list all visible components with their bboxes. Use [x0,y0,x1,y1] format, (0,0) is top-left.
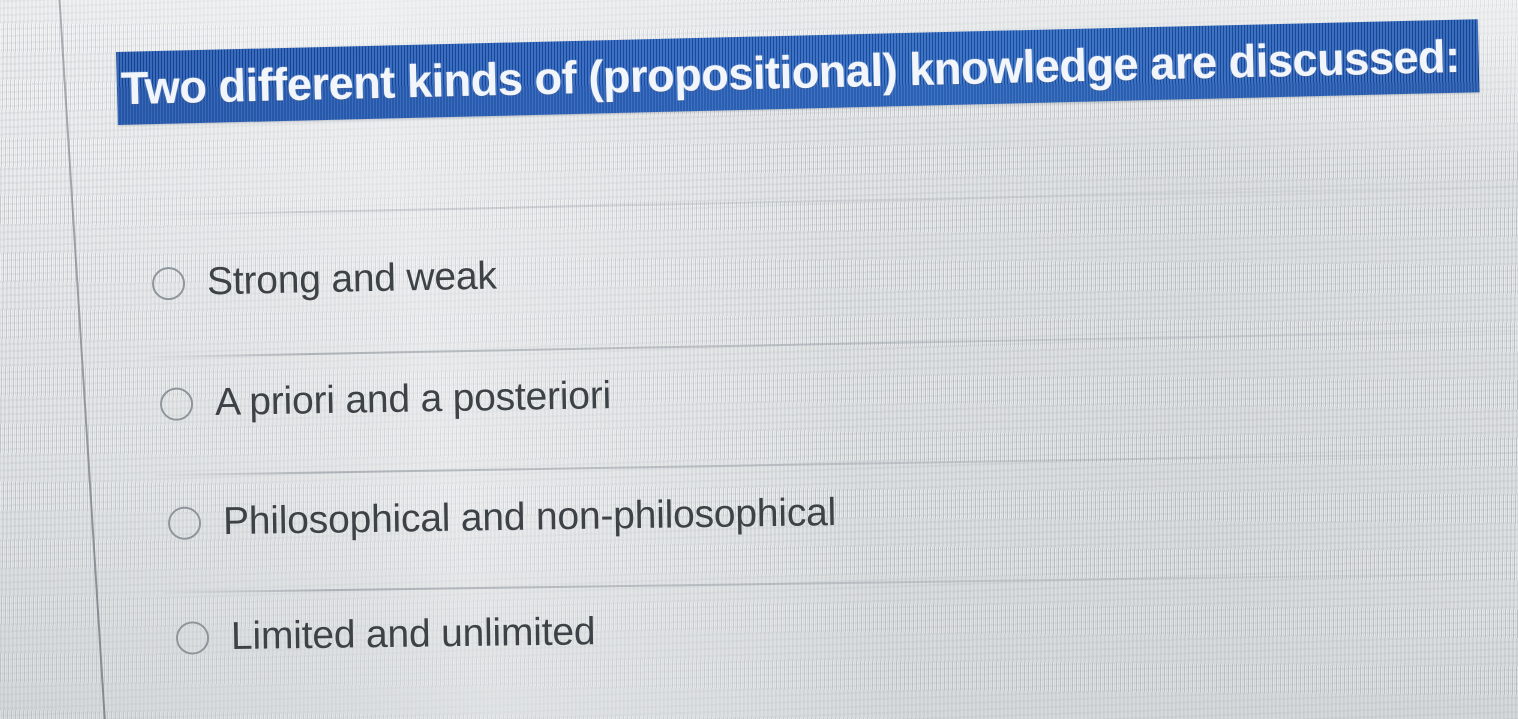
radio-unchecked-icon[interactable] [168,506,201,539]
option-divider-3 [164,573,1518,593]
option-label-strong-weak: Strong and weak [207,255,498,305]
radio-unchecked-icon[interactable] [160,387,194,421]
option-label-philosophical: Philosophical and non-philosophical [223,491,837,544]
option-row-strong-weak[interactable]: Strong and weak [152,255,498,306]
option-row-limited-unlimited[interactable]: Limited and unlimited [176,610,596,659]
option-label-limited-unlimited: Limited and unlimited [231,610,596,659]
option-divider-1 [148,330,1518,358]
question-content: Two different kinds of (propositional) k… [0,0,1518,719]
radio-unchecked-icon[interactable] [176,621,209,654]
option-row-philosophical[interactable]: Philosophical and non-philosophical [168,491,837,545]
question-prompt-text: Two different kinds of (propositional) k… [116,30,1460,115]
option-divider-2 [156,452,1518,476]
question-prompt-highlight: Two different kinds of (propositional) k… [116,19,1479,125]
option-label-a-priori-posteriori: A priori and a posteriori [215,374,612,425]
radio-unchecked-icon[interactable] [152,266,186,300]
option-divider-top [140,186,1518,216]
option-row-a-priori-posteriori[interactable]: A priori and a posteriori [160,374,612,426]
quiz-question-screen: Two different kinds of (propositional) k… [0,0,1518,719]
